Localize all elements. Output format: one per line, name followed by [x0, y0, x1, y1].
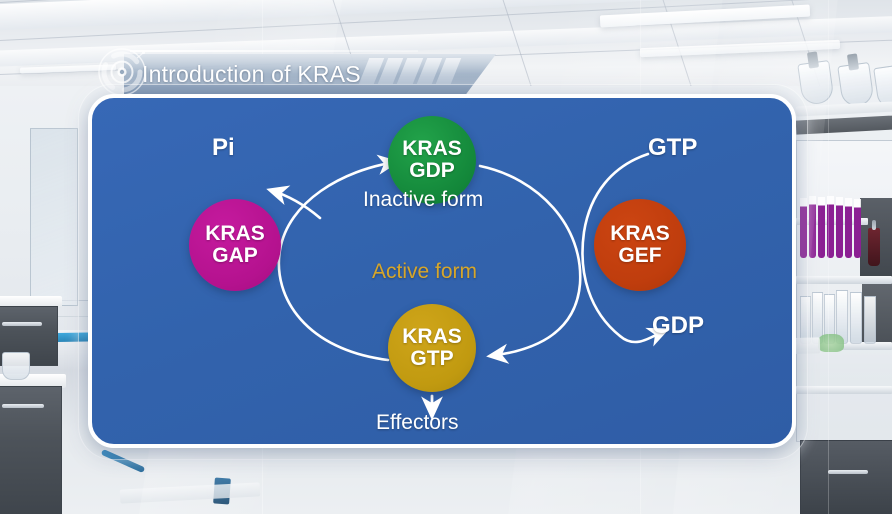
node-kras-gef-line1: KRAS	[610, 223, 670, 245]
node-kras-gtp-line2: GTP	[410, 348, 453, 370]
reagent-bottle	[868, 228, 880, 266]
test-tube	[809, 196, 816, 258]
title-decor-bars	[359, 58, 462, 84]
glass-cylinder	[850, 292, 862, 344]
node-kras-gef-line2: GEF	[618, 245, 661, 267]
title-underline	[130, 50, 418, 52]
glass-flask	[2, 352, 30, 380]
test-tube	[854, 199, 861, 258]
node-kras-gdp-line2: GDP	[409, 160, 455, 182]
test-tube	[818, 197, 825, 258]
label-gdp: GDP	[652, 312, 704, 340]
caption-active-form: Active form	[372, 260, 477, 284]
caption-inactive-form: Inactive form	[363, 188, 483, 212]
node-kras-gef[interactable]: KRAS GEF	[594, 199, 686, 291]
wall-glass-panel	[30, 128, 78, 306]
label-pi: Pi	[212, 134, 235, 162]
test-tube	[845, 198, 852, 258]
slide-canvas: Introduction of KRAS	[0, 0, 892, 514]
node-kras-gtp-line1: KRAS	[402, 326, 462, 348]
plant	[818, 334, 844, 352]
label-effectors: Effectors	[376, 411, 458, 435]
node-kras-gap[interactable]: KRAS GAP	[189, 199, 281, 291]
node-kras-gdp-line1: KRAS	[402, 138, 462, 160]
cabinet-right[interactable]	[800, 440, 892, 514]
glass-cylinder	[864, 296, 876, 344]
label-gtp: GTP	[648, 134, 697, 162]
kras-diagram-panel: KRAS GDP KRAS GTP KRAS GAP KRAS GEF Inac…	[88, 94, 796, 448]
node-kras-gtp[interactable]: KRAS GTP	[388, 304, 476, 392]
node-kras-gap-line2: GAP	[212, 245, 258, 267]
kras-cycle-diagram: KRAS GDP KRAS GTP KRAS GAP KRAS GEF Inac…	[92, 98, 792, 444]
node-kras-gap-line1: KRAS	[205, 223, 265, 245]
test-tube	[836, 197, 843, 258]
